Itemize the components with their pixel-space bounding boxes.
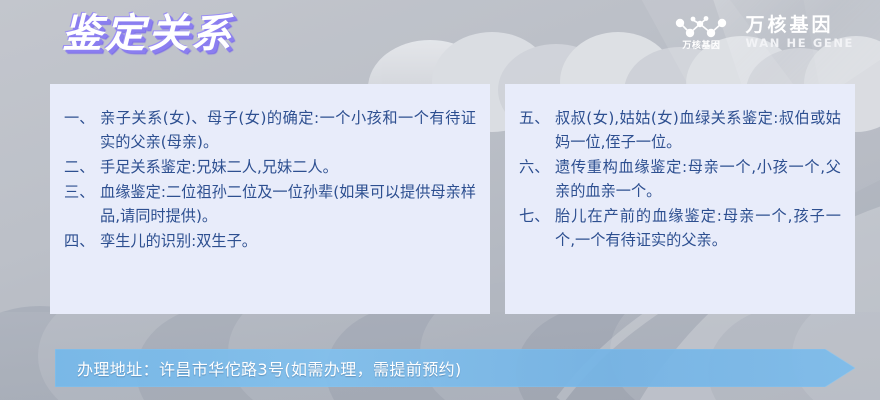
list-item-marker: 一、 bbox=[64, 106, 100, 130]
list-item-marker: 七、 bbox=[519, 204, 555, 228]
list-item: 三、 血缘鉴定:二位祖孙二位及一位孙辈(如果可以提供母亲样品,请同时提供)。 bbox=[64, 180, 476, 228]
brand-mark: 万核基因 bbox=[673, 14, 729, 51]
list-item: 七、 胎儿在产前的血缘鉴定:母亲一个,孩子一个,一个有待证实的父亲。 bbox=[519, 204, 841, 252]
molecule-node-icon bbox=[673, 14, 729, 40]
brand-logo: 万核基因 万核基因 WAN HE GENE bbox=[673, 14, 854, 51]
list-item: 五、 叔叔(女),姑姑(女)血绿关系鉴定:叔伯或姑妈一位,侄子一位。 bbox=[519, 106, 841, 154]
list-item-text: 手足关系鉴定:兄妹二人,兄妹二人。 bbox=[100, 155, 476, 179]
brand-text: 万核基因 WAN HE GENE bbox=[745, 16, 854, 49]
list-item-text: 孪生儿的识别:双生子。 bbox=[100, 229, 476, 253]
list-item-marker: 五、 bbox=[519, 106, 555, 130]
list-item: 二、 手足关系鉴定:兄妹二人,兄妹二人。 bbox=[64, 155, 476, 179]
panel-left: 一、 亲子关系(女)、母子(女)的确定:一个小孩和一个有待证实的父亲(母亲)。 … bbox=[50, 84, 490, 314]
list-item-text: 亲子关系(女)、母子(女)的确定:一个小孩和一个有待证实的父亲(母亲)。 bbox=[100, 106, 476, 154]
poster-header: 鉴定关系 bbox=[0, 0, 880, 84]
list-item-marker: 二、 bbox=[64, 155, 100, 179]
page-title: 鉴定关系 bbox=[62, 14, 234, 54]
footer-address-text: 办理地址：许昌市华佗路3号(如需办理，需提前预约) bbox=[77, 349, 462, 387]
panel-right: 五、 叔叔(女),姑姑(女)血绿关系鉴定:叔伯或姑妈一位,侄子一位。 六、 遗传… bbox=[505, 84, 855, 314]
list-item: 六、 遗传重构血缘鉴定:母亲一个,小孩一个,父亲的血亲一个。 bbox=[519, 155, 841, 203]
list-item-marker: 三、 bbox=[64, 180, 100, 204]
list-item-marker: 四、 bbox=[64, 229, 100, 253]
list-item-text: 叔叔(女),姑姑(女)血绿关系鉴定:叔伯或姑妈一位,侄子一位。 bbox=[555, 106, 841, 154]
list-item-text: 遗传重构血缘鉴定:母亲一个,小孩一个,父亲的血亲一个。 bbox=[555, 155, 841, 203]
list-item-text: 胎儿在产前的血缘鉴定:母亲一个,孩子一个,一个有待证实的父亲。 bbox=[555, 204, 841, 252]
poster-root: 鉴定关系 bbox=[0, 0, 880, 400]
brand-name-cn: 万核基因 bbox=[745, 16, 854, 36]
list-item-marker: 六、 bbox=[519, 155, 555, 179]
list-item: 一、 亲子关系(女)、母子(女)的确定:一个小孩和一个有待证实的父亲(母亲)。 bbox=[64, 106, 476, 154]
list-item: 四、 孪生儿的识别:双生子。 bbox=[64, 229, 476, 253]
brand-mark-label: 万核基因 bbox=[682, 42, 720, 51]
brand-name-en: WAN HE GENE bbox=[745, 38, 854, 50]
content-panels: 一、 亲子关系(女)、母子(女)的确定:一个小孩和一个有待证实的父亲(母亲)。 … bbox=[0, 84, 880, 314]
footer-address-banner: 办理地址：许昌市华佗路3号(如需办理，需提前预约) bbox=[55, 349, 855, 387]
list-item-text: 血缘鉴定:二位祖孙二位及一位孙辈(如果可以提供母亲样品,请同时提供)。 bbox=[100, 180, 476, 228]
